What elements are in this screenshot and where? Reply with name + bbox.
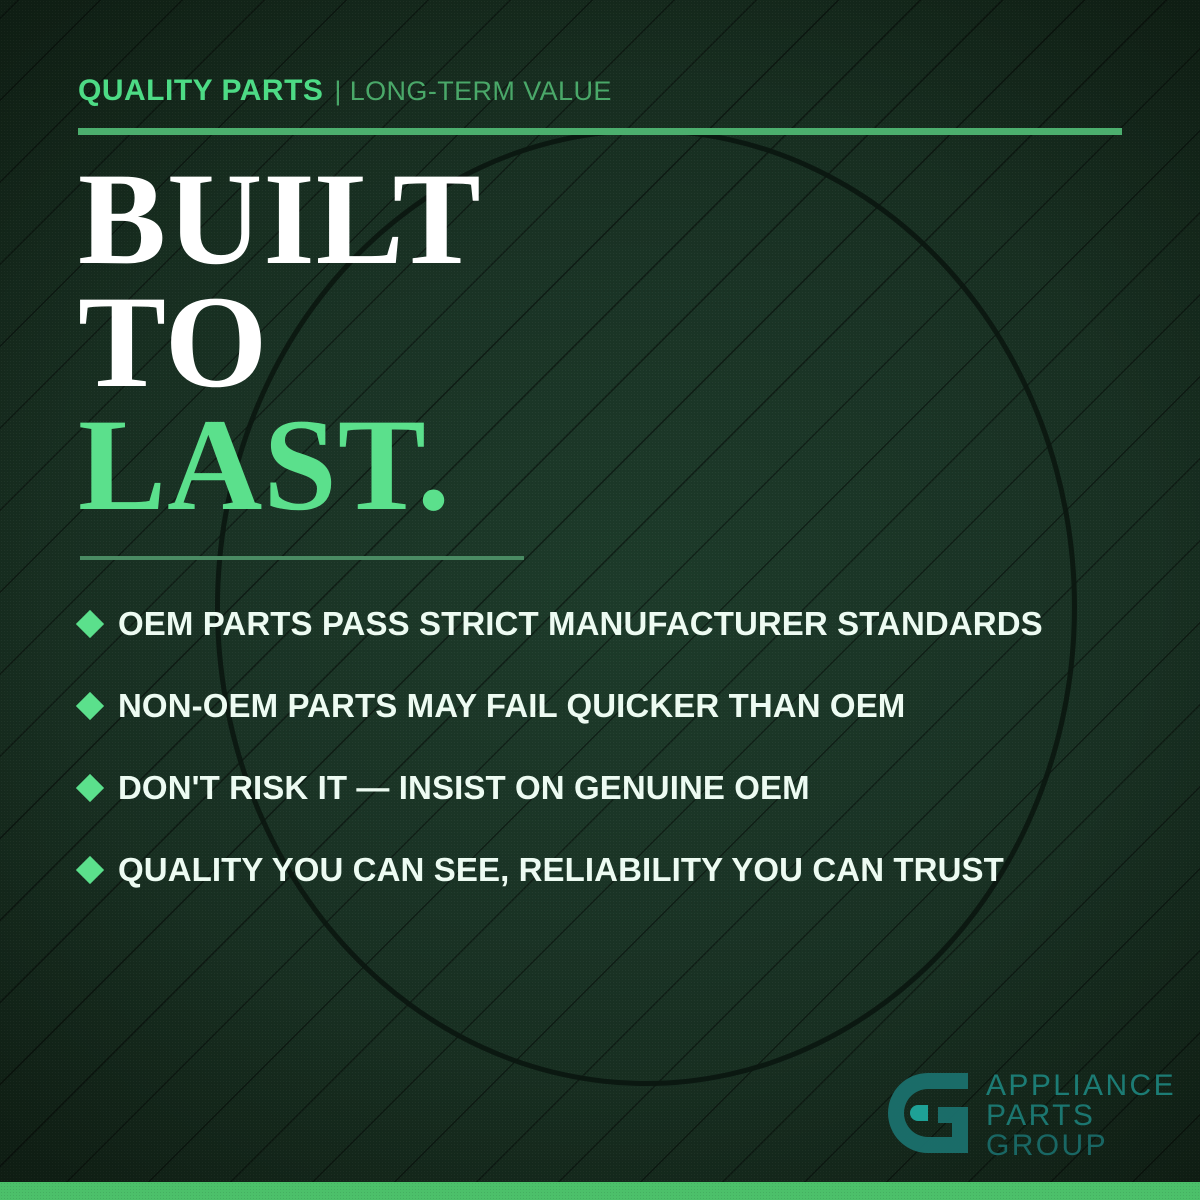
- list-item-label: QUALITY YOU CAN SEE, RELIABILITY YOU CAN…: [118, 851, 1004, 889]
- headline-line-3-accent: LAST.: [78, 404, 482, 527]
- list-item-label: DON'T RISK IT — INSIST ON GENUINE OEM: [118, 769, 810, 807]
- bottom-strip-grain: [0, 1182, 1200, 1200]
- headline-line-2: TO: [78, 281, 482, 404]
- list-item: NON-OEM PARTS MAY FAIL QUICKER THAN OEM: [80, 665, 1140, 747]
- bottom-accent-strip: [0, 1182, 1200, 1200]
- diamond-icon: [76, 856, 104, 884]
- bullet-list: OEM PARTS PASS STRICT MANUFACTURER STAND…: [80, 583, 1140, 911]
- list-item-label: NON-OEM PARTS MAY FAIL QUICKER THAN OEM: [118, 687, 905, 725]
- headline: BUILT TO LAST.: [78, 158, 482, 526]
- list-item: QUALITY YOU CAN SEE, RELIABILITY YOU CAN…: [80, 829, 1140, 911]
- list-item: OEM PARTS PASS STRICT MANUFACTURER STAND…: [80, 583, 1140, 665]
- header-divider-rule: [78, 128, 1122, 135]
- brand-word-parts: PARTS: [986, 1101, 1176, 1131]
- eyebrow-main-label: QUALITY PARTS: [78, 74, 323, 108]
- poster-canvas: QUALITY PARTS | LONG-TERM VALUE BUILT TO…: [0, 0, 1200, 1200]
- list-item-label: OEM PARTS PASS STRICT MANUFACTURER STAND…: [118, 605, 1043, 643]
- diamond-icon: [76, 692, 104, 720]
- headline-line-1: BUILT: [78, 158, 482, 281]
- diamond-icon: [76, 774, 104, 802]
- list-item: DON'T RISK IT — INSIST ON GENUINE OEM: [80, 747, 1140, 829]
- eyebrow-sub-label: | LONG-TERM VALUE: [334, 76, 611, 107]
- headline-divider-rule: [80, 556, 524, 560]
- brand-word-appliance: APPLIANCE: [986, 1071, 1176, 1101]
- eyebrow: QUALITY PARTS | LONG-TERM VALUE: [78, 74, 612, 108]
- brand-logo-wordmark: APPLIANCE PARTS GROUP: [986, 1071, 1176, 1161]
- diamond-icon: [76, 610, 104, 638]
- brand-logo: APPLIANCE PARTS GROUP: [882, 1067, 1176, 1164]
- g-monogram-icon: [882, 1067, 974, 1164]
- brand-word-group: GROUP: [986, 1131, 1176, 1161]
